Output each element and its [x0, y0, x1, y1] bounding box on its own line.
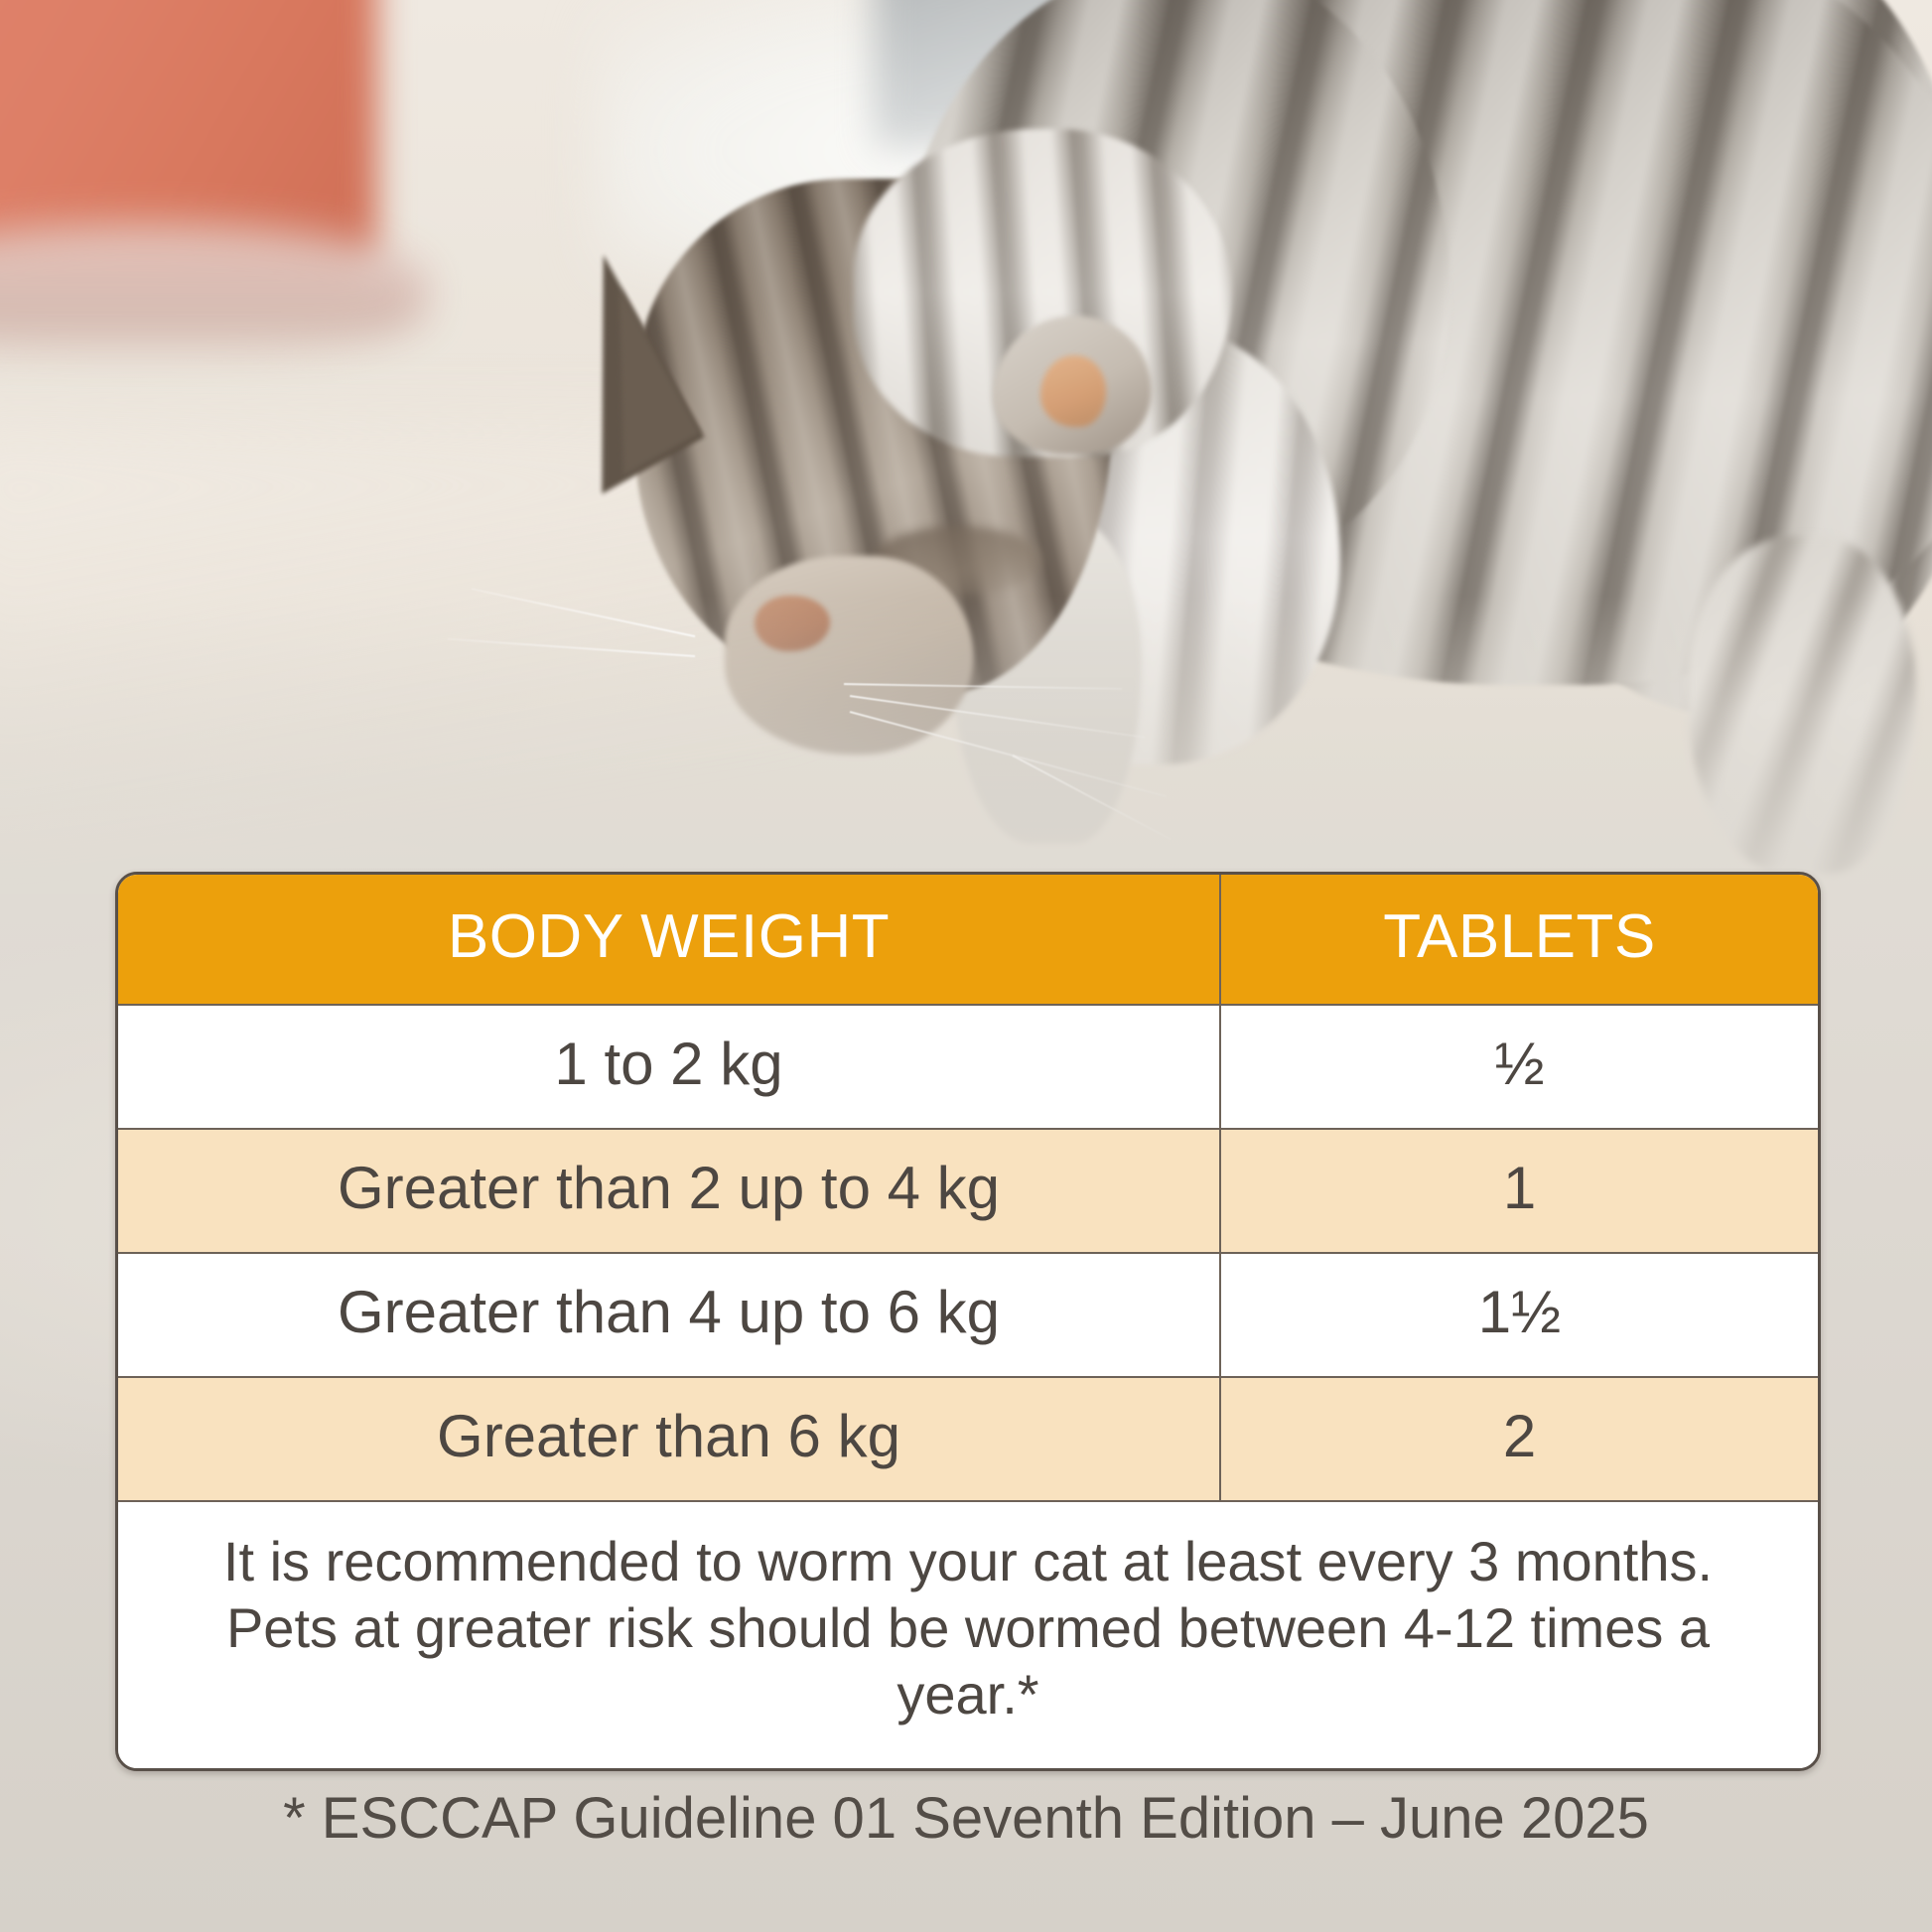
source-footnote: * ESCCAP Guideline 01 Seventh Edition – …: [0, 1785, 1932, 1852]
table-row: Greater than 4 up to 6 kg 1½: [118, 1252, 1818, 1376]
cell-body-weight: Greater than 2 up to 4 kg: [118, 1130, 1221, 1252]
column-header-tablets: TABLETS: [1221, 875, 1818, 1004]
cell-tablets: 1½: [1221, 1254, 1818, 1376]
worming-frequency-note: It is recommended to worm your cat at le…: [118, 1502, 1818, 1768]
cat-right-ear-inner: [1040, 355, 1106, 427]
table-header-row: BODY WEIGHT TABLETS: [118, 875, 1818, 1004]
photo-fade: [0, 596, 1932, 913]
cell-tablets: 2: [1221, 1378, 1818, 1500]
table-row: Greater than 6 kg 2: [118, 1376, 1818, 1500]
column-header-body-weight: BODY WEIGHT: [118, 875, 1221, 1004]
dosage-table: BODY WEIGHT TABLETS 1 to 2 kg ½ Greater …: [115, 872, 1821, 1771]
cell-body-weight: Greater than 4 up to 6 kg: [118, 1254, 1221, 1376]
cell-body-weight: 1 to 2 kg: [118, 1006, 1221, 1128]
table-row: 1 to 2 kg ½: [118, 1004, 1818, 1128]
table-note-row: It is recommended to worm your cat at le…: [118, 1500, 1818, 1768]
cell-tablets: 1: [1221, 1130, 1818, 1252]
table-row: Greater than 2 up to 4 kg 1: [118, 1128, 1818, 1252]
cell-body-weight: Greater than 6 kg: [118, 1378, 1221, 1500]
cell-tablets: ½: [1221, 1006, 1818, 1128]
